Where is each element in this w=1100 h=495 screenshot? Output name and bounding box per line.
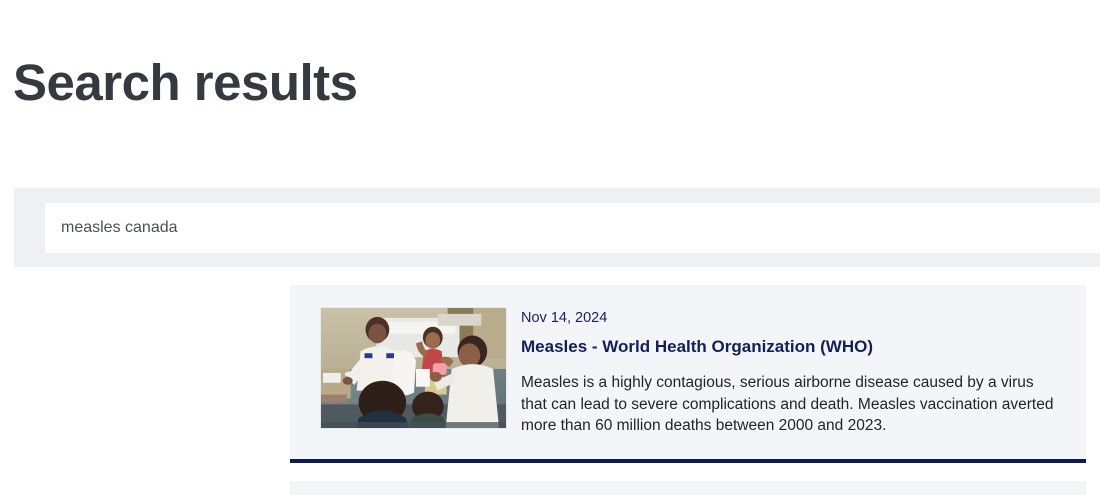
result-thumbnail[interactable] (320, 307, 507, 429)
breadcrumb-current: Search results (68, 0, 171, 4)
search-result-item-next[interactable] (290, 481, 1086, 495)
search-input[interactable] (45, 203, 1100, 253)
breadcrumb-separator: / (60, 0, 64, 4)
search-results-page: Home/Search results Search results (0, 0, 1100, 495)
breadcrumb: Home/Search results (14, 0, 171, 6)
result-description: Measles is a highly contagious, serious … (521, 372, 1062, 437)
breadcrumb-link-home[interactable]: Home (14, 0, 56, 4)
search-result-item[interactable]: Nov 14, 2024 Measles - World Health Orga… (290, 285, 1086, 463)
search-results-list: Nov 14, 2024 Measles - World Health Orga… (290, 285, 1086, 495)
result-date: Nov 14, 2024 (521, 308, 1062, 328)
result-body: Nov 14, 2024 Measles - World Health Orga… (521, 307, 1062, 437)
search-panel (14, 188, 1100, 267)
page-title: Search results (13, 52, 358, 114)
result-title-link[interactable]: Measles - World Health Organization (WHO… (521, 335, 1062, 358)
